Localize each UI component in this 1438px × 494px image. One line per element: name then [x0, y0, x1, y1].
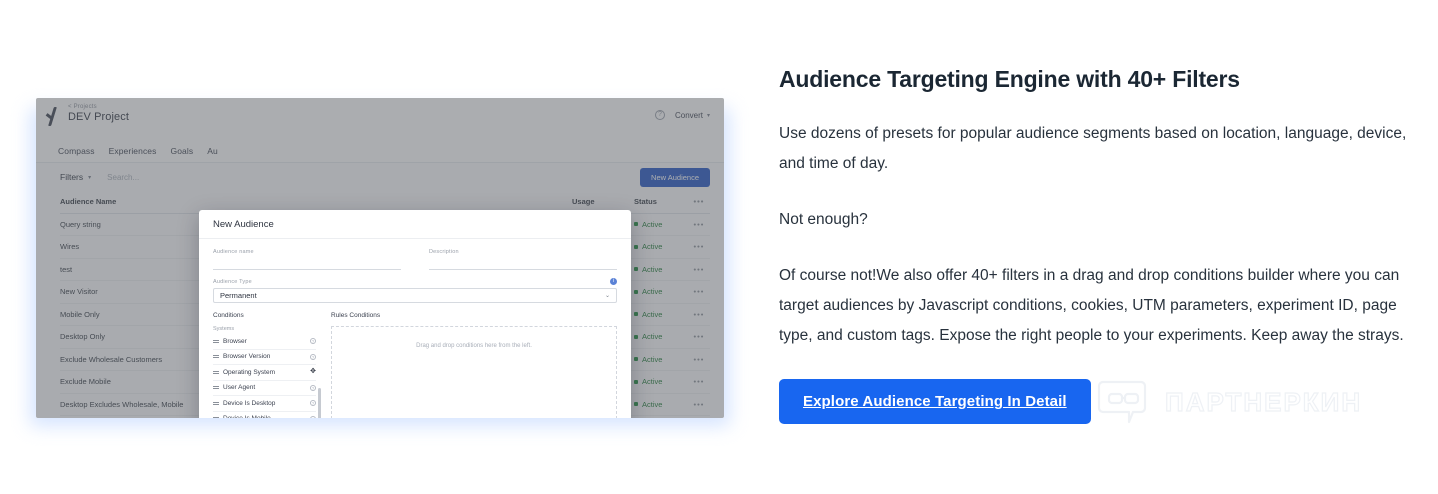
info-icon[interactable]: i: [610, 278, 617, 285]
column-header-status[interactable]: Status: [634, 197, 688, 206]
explore-audience-targeting-button[interactable]: Explore Audience Targeting In Detail: [779, 379, 1091, 424]
page-title: DEV Project: [68, 111, 129, 123]
conditions-scrollbar[interactable]: [318, 388, 321, 418]
condition-item-left: Device Is Mobile: [213, 415, 271, 418]
column-header-usage[interactable]: Usage: [572, 197, 634, 206]
drag-handle-icon[interactable]: [213, 386, 219, 389]
product-screenshot-panel: < Projects DEV Project ? Convert ▾ Compa…: [36, 98, 724, 418]
account-menu-label: Convert: [675, 111, 703, 120]
audience-name-label: Audience name: [213, 249, 401, 255]
app-screenshot: < Projects DEV Project ? Convert ▾ Compa…: [36, 98, 724, 418]
condition-item[interactable]: Device Is Mobile?: [213, 412, 316, 419]
nav-item-goals[interactable]: Goals: [170, 146, 193, 156]
audience-name-input[interactable]: [213, 257, 401, 270]
conditions-list[interactable]: SystemsBrowser?Browser Version?Operating…: [213, 324, 321, 418]
app-nav: Compass Experiences Goals Au: [36, 142, 724, 163]
column-header-name[interactable]: Audience Name: [60, 197, 572, 206]
row-menu-icon[interactable]: •••: [688, 355, 710, 364]
description-label: Description: [429, 249, 617, 255]
status-label: Active: [642, 220, 662, 229]
new-audience-button[interactable]: New Audience: [640, 168, 710, 187]
condition-item-left: Device Is Desktop: [213, 400, 275, 407]
status-label: Active: [642, 287, 662, 296]
nav-item-compass[interactable]: Compass: [58, 146, 95, 156]
app-header: < Projects DEV Project ? Convert ▾: [36, 98, 724, 142]
column-header-menu[interactable]: •••: [688, 197, 710, 206]
status-badge: Active: [634, 287, 688, 296]
condition-item-label: Device Is Desktop: [223, 400, 275, 407]
condition-item[interactable]: Device Is Desktop?: [213, 396, 316, 412]
status-dot-icon: [634, 312, 638, 316]
status-badge: Active: [634, 265, 688, 274]
help-icon[interactable]: ?: [310, 385, 316, 391]
header-actions: ? Convert ▾: [655, 110, 710, 120]
new-audience-modal: New Audience Audience name Description: [199, 210, 631, 418]
modal-header: New Audience: [199, 210, 631, 239]
help-icon[interactable]: ?: [310, 338, 316, 344]
row-menu-icon[interactable]: •••: [688, 287, 710, 296]
modal-top-fields: Audience name Description: [199, 239, 631, 272]
audience-type-value: Permanent: [220, 291, 257, 300]
condition-group-label: Systems: [213, 326, 316, 332]
status-badge: Active: [634, 377, 688, 386]
status-label: Active: [642, 332, 662, 341]
nav-item-experiences[interactable]: Experiences: [109, 146, 157, 156]
feature-heading: Audience Targeting Engine with 40+ Filte…: [779, 66, 1409, 93]
row-menu-icon[interactable]: •••: [688, 377, 710, 386]
status-dot-icon: [634, 222, 638, 226]
condition-item-label: Browser Version: [223, 353, 270, 360]
condition-item-label: Operating System: [223, 369, 275, 376]
drag-handle-icon[interactable]: [213, 417, 219, 418]
account-menu[interactable]: Convert ▾: [675, 111, 710, 120]
audience-type-block: Audience Type i Permanent ⌄: [199, 272, 631, 303]
status-badge: Active: [634, 332, 688, 341]
condition-item-label: User Agent: [223, 384, 255, 391]
conditions-builder: Conditions SystemsBrowser?Browser Versio…: [199, 303, 631, 418]
feature-paragraph-1: Use dozens of presets for popular audien…: [779, 119, 1409, 179]
row-menu-icon[interactable]: •••: [688, 265, 710, 274]
rules-panel: Rules Conditions Drag and drop condition…: [331, 312, 617, 418]
row-menu-icon[interactable]: •••: [688, 310, 710, 319]
filters-label: Filters: [60, 172, 83, 182]
chevron-down-icon: ⌄: [605, 292, 610, 299]
status-dot-icon: [634, 357, 638, 361]
feature-copy: Audience Targeting Engine with 40+ Filte…: [779, 66, 1409, 424]
help-icon[interactable]: ?: [655, 110, 665, 120]
marketing-feature-section: < Projects DEV Project ? Convert ▾ Compa…: [0, 0, 1438, 494]
row-menu-icon[interactable]: •••: [688, 332, 710, 341]
table-toolbar: Filters ▾ Search... New Audience: [36, 163, 724, 191]
condition-item[interactable]: Browser Version?: [213, 350, 316, 366]
search-input[interactable]: Search...: [107, 173, 139, 182]
status-label: Active: [642, 377, 662, 386]
condition-item-left: Operating System: [213, 369, 275, 376]
filters-dropdown[interactable]: Filters ▾: [60, 172, 91, 182]
status-badge: Active: [634, 400, 688, 409]
row-menu-icon[interactable]: •••: [688, 242, 710, 251]
status-dot-icon: [634, 245, 638, 249]
condition-item-left: User Agent: [213, 384, 255, 391]
description-input[interactable]: [429, 257, 617, 270]
audience-name-field[interactable]: Audience name: [213, 249, 401, 270]
rules-title: Rules Conditions: [331, 312, 617, 319]
audience-type-label: Audience Type: [213, 279, 252, 285]
conditions-title: Conditions: [213, 312, 321, 319]
condition-item-left: Browser Version: [213, 353, 270, 360]
nav-item-audiences[interactable]: Au: [207, 146, 218, 156]
status-badge: Active: [634, 355, 688, 364]
status-badge: Active: [634, 310, 688, 319]
status-dot-icon: [634, 267, 638, 271]
status-label: Active: [642, 265, 662, 274]
status-dot-icon: [634, 402, 638, 406]
status-label: Active: [642, 242, 662, 251]
status-badge: Active: [634, 220, 688, 229]
help-icon[interactable]: ?: [310, 400, 316, 406]
modal-body: Audience name Description Audience Type …: [199, 239, 631, 418]
condition-item[interactable]: User Agent?: [213, 381, 316, 397]
drag-handle-icon[interactable]: [213, 402, 219, 405]
move-cursor-icon[interactable]: ✥: [310, 369, 316, 375]
feature-paragraph-3: Of course not!We also offer 40+ filters …: [779, 261, 1409, 351]
audience-type-label-row: Audience Type i: [213, 278, 617, 285]
conditions-panel: Conditions SystemsBrowser?Browser Versio…: [213, 312, 321, 418]
condition-item[interactable]: Operating System✥: [213, 365, 316, 381]
condition-item-label: Browser: [223, 338, 247, 345]
condition-item-label: Device Is Mobile: [223, 415, 271, 418]
row-menu-icon[interactable]: •••: [688, 400, 710, 409]
audience-type-select[interactable]: Permanent ⌄: [213, 288, 617, 303]
rules-dropzone[interactable]: Drag and drop conditions here from the l…: [331, 326, 617, 418]
status-badge: Active: [634, 242, 688, 251]
drag-handle-icon[interactable]: [213, 340, 219, 343]
status-dot-icon: [634, 335, 638, 339]
help-icon[interactable]: ?: [310, 416, 316, 418]
status-dot-icon: [634, 290, 638, 294]
description-field[interactable]: Description: [429, 249, 617, 270]
brand-block: < Projects DEV Project: [46, 104, 712, 127]
chevron-down-icon: ▾: [88, 174, 91, 181]
status-dot-icon: [634, 380, 638, 384]
help-icon[interactable]: ?: [310, 354, 316, 360]
drag-handle-icon[interactable]: [213, 371, 219, 374]
feature-paragraph-2: Not enough?: [779, 205, 1409, 235]
condition-item-left: Browser: [213, 338, 247, 345]
chevron-down-icon: ▾: [707, 112, 710, 119]
status-label: Active: [642, 310, 662, 319]
status-label: Active: [642, 355, 662, 364]
drag-handle-icon[interactable]: [213, 355, 219, 358]
breadcrumb[interactable]: < Projects: [68, 104, 129, 110]
modal-title: New Audience: [213, 219, 617, 230]
status-label: Active: [642, 400, 662, 409]
row-menu-icon[interactable]: •••: [688, 220, 710, 229]
convert-slash-logo-icon: [46, 107, 61, 127]
condition-item[interactable]: Browser?: [213, 334, 316, 350]
